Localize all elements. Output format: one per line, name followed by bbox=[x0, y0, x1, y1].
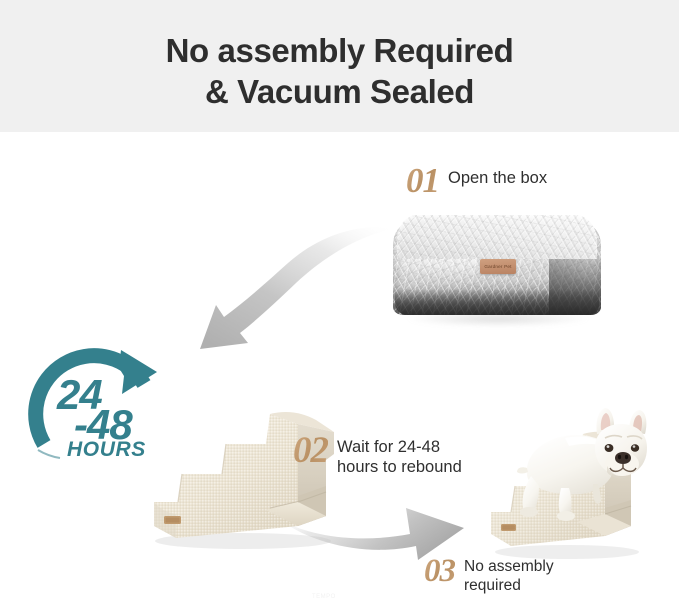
step-01-text: Open the box bbox=[448, 163, 547, 188]
french-bulldog-illustration bbox=[505, 404, 655, 534]
step-03-number: 03 bbox=[424, 555, 455, 588]
package-brand-label: Gardner Pet bbox=[480, 259, 516, 274]
step-02-number: 02 bbox=[293, 432, 328, 469]
vacuum-sealed-package: Gardner Pet bbox=[393, 215, 601, 325]
infographic-page: No assembly Required & Vacuum Sealed 01 bbox=[0, 0, 679, 608]
watermark: TEMPO bbox=[312, 594, 336, 600]
package-top-crinkle bbox=[397, 215, 597, 259]
arrow-curved-down-left bbox=[176, 225, 396, 355]
step-01: 01 Open the box bbox=[406, 163, 547, 198]
step-03: 03 No assembly required bbox=[424, 555, 554, 595]
package-brand-label-text: Gardner Pet bbox=[484, 264, 511, 269]
package-top-face bbox=[397, 215, 597, 259]
package-shading-bottom bbox=[395, 289, 599, 315]
page-title: No assembly Required & Vacuum Sealed bbox=[0, 30, 679, 112]
step-01-number: 01 bbox=[406, 163, 439, 198]
step-02-text: Wait for 24-48 hours to rebound bbox=[337, 432, 462, 477]
step-02: 02 Wait for 24-48 hours to rebound bbox=[293, 432, 462, 477]
step-03-text: No assembly required bbox=[464, 555, 554, 595]
